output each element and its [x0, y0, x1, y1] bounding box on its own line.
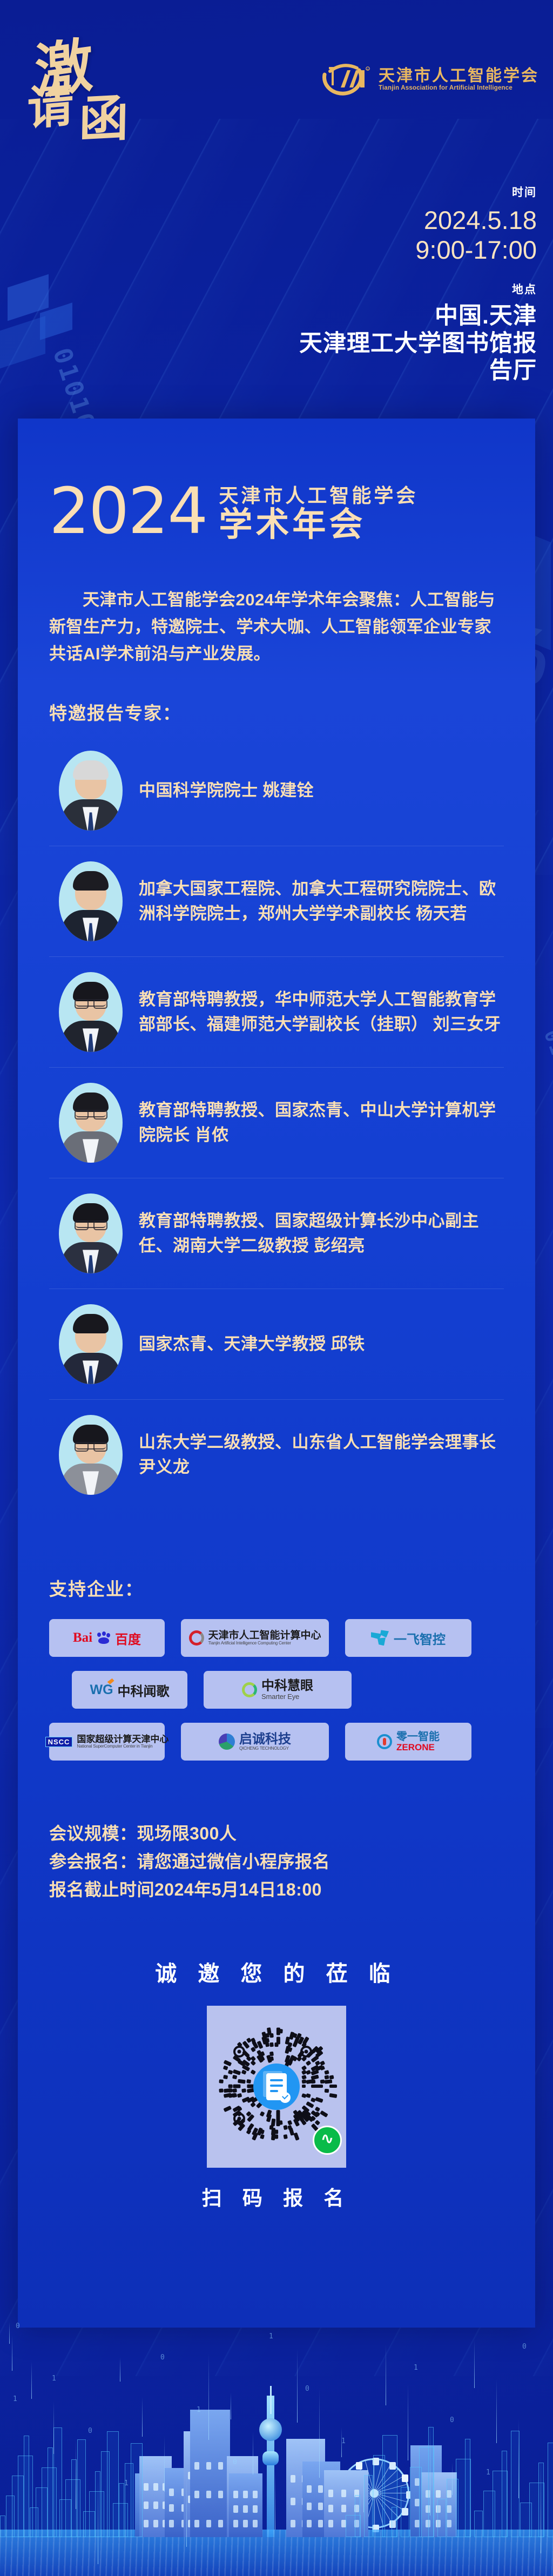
wireframe-building [131, 2443, 143, 2537]
building-window [253, 2520, 258, 2527]
tv-tower-pod [262, 2451, 279, 2465]
building-window [144, 2483, 149, 2491]
rain-streak [319, 2388, 320, 2478]
building-window [253, 2491, 258, 2498]
conference-name: 学术年会 [219, 507, 418, 543]
qr-module [306, 2101, 314, 2108]
sponsor-name: 零一智能 [396, 1731, 440, 1743]
qr-module [246, 2080, 251, 2084]
time-label: 时间 [310, 184, 537, 200]
qr-module [329, 2093, 337, 2098]
building-window [169, 2520, 174, 2527]
sponsor-name: 国家超级计算天津中心 [77, 1735, 168, 1745]
qr-code[interactable]: ∿ [207, 2006, 346, 2168]
qr-module [283, 2125, 287, 2130]
qr-module [269, 2034, 273, 2038]
nscc-wordmark-icon: NSCC [45, 1737, 73, 1747]
conference-org-name: 天津市人工智能学会 [219, 485, 418, 506]
building [190, 2410, 230, 2537]
binary-digit: 1 [197, 2406, 201, 2414]
building-window [318, 2485, 323, 2493]
place-label: 地点 [278, 281, 537, 297]
building-window [218, 2462, 223, 2470]
tv-tower-spire [270, 2386, 272, 2414]
qr-module [242, 2089, 246, 2093]
qr-module [279, 2121, 283, 2125]
binary-digit: 0 [450, 2416, 454, 2424]
qr-module [325, 2075, 329, 2079]
qr-module [219, 2080, 224, 2083]
qr-module [251, 2070, 256, 2075]
qr-module [251, 2102, 256, 2107]
qr-module [306, 2061, 311, 2066]
sponsor-logo-qicheng[interactable]: 启诚科技QICHENG TECHNOLOGY [181, 1723, 329, 1761]
rain-streak [76, 2440, 76, 2509]
sponsor-logo-nscc-tj[interactable]: NSCC国家超级计算天津中心National SuperComputer Cen… [49, 1723, 165, 1761]
qr-module [233, 2069, 241, 2075]
wireframe-building [548, 2443, 553, 2537]
building-window [243, 2491, 248, 2498]
qr-module [329, 2075, 334, 2079]
building-window [233, 2520, 238, 2527]
building-window [194, 2491, 199, 2498]
speaker-avatar [59, 861, 123, 941]
building-window [318, 2520, 323, 2527]
rain-streak [474, 2340, 475, 2388]
qr-module [315, 2107, 320, 2112]
rain-streak [253, 2432, 253, 2474]
rain-streak [31, 2362, 32, 2399]
qr-module [301, 2075, 306, 2080]
building-window [218, 2491, 223, 2498]
speaker-avatar [59, 1083, 123, 1163]
calligraphy-char-3: 函 [78, 95, 151, 144]
speaker-title-and-name: 加拿大国家工程院、加拿大工程研究院院士、欧洲科学院院士，郑州大学学术副校长 杨天… [139, 876, 504, 927]
qr-module [269, 2052, 274, 2056]
building-window [169, 2504, 174, 2512]
qr-module [315, 2085, 323, 2088]
sponsor-logo-zerone[interactable]: 零一智能ZERONE [345, 1723, 471, 1761]
qr-module [238, 2079, 246, 2083]
building-window [206, 2462, 211, 2470]
qr-module [265, 2038, 269, 2043]
wireframe-building [437, 2499, 446, 2537]
qr-module [301, 2080, 306, 2084]
wireframe-building [474, 2511, 483, 2537]
rain-streak [386, 2344, 386, 2405]
qr-module [325, 2080, 333, 2084]
qr-module [302, 2085, 306, 2088]
sponsor-logo-grid: Bai百度天津市人工智能计算中心Tianjin Artificial Intel… [49, 1619, 504, 1761]
speaker-title-and-name: 教育部特聘教授，华中师范大学人工智能教育学部部长、福建师范大学副校长（挂职） 刘… [139, 987, 504, 1037]
association-logo: R 天津市人工智能学会 Tianjin Association for Arti… [319, 60, 539, 99]
building-window [291, 2520, 295, 2527]
main-content-card: 2024 天津市人工智能学会 学术年会 天津市人工智能学会2024年学术年会聚焦… [18, 419, 535, 2328]
wireframe-building [355, 2495, 360, 2537]
registration-info: 会议规模：现场限300人 参会报名：请您通过微信小程序报名 报名截止时间2024… [49, 1820, 504, 1904]
binary-digit: 0 [522, 2343, 527, 2351]
binary-digit: 1 [341, 2437, 346, 2445]
rain-streak [363, 2467, 364, 2512]
rain-streak [275, 2471, 275, 2530]
tv-tower [267, 2396, 274, 2537]
building-window [144, 2520, 149, 2527]
rain-streak [430, 2423, 430, 2516]
building-window [233, 2491, 238, 2498]
building-window [233, 2505, 238, 2513]
building-window [318, 2503, 323, 2510]
binary-digit: 1 [13, 2395, 17, 2403]
baidu-wordmark: Bai [73, 1630, 92, 1646]
binary-digit: 1 [414, 2364, 418, 2372]
building-window [194, 2462, 199, 2470]
building-window [243, 2505, 248, 2513]
building-window [341, 2505, 346, 2512]
qr-pattern [219, 2029, 334, 2144]
wireframe-building [401, 2487, 409, 2537]
speaker-avatar [59, 1193, 123, 1273]
wireframe-building [24, 2436, 29, 2537]
qr-module [269, 2042, 273, 2047]
event-city: 中国.天津 [278, 302, 537, 330]
speaker-title-and-name: 教育部特聘教授、国家超级计算长沙中心副主任、湖南大学二级教授 彭绍亮 [139, 1209, 504, 1259]
qr-module [288, 2047, 293, 2052]
sponsor-name: 中科慧眼 [261, 1679, 313, 1693]
sponsor-logo-row: WG中科闻歌中科慧眼Smarter Eye [49, 1671, 504, 1709]
building-window [291, 2475, 295, 2483]
event-time-block: 时间 2024.5.18 9:00-17:00 [310, 184, 537, 265]
wireframe-building [119, 2483, 124, 2537]
binary-digit: 0 [160, 2354, 165, 2362]
qr-module [269, 2056, 274, 2061]
rain-streak [208, 2353, 209, 2440]
building-window [436, 2490, 441, 2498]
rain-streak [186, 2476, 187, 2547]
sponsor-logo-wengegroup[interactable]: WG中科闻歌 [72, 1671, 187, 1709]
speaker-title-and-name: 中国科学院院士 姚建铨 [139, 778, 314, 804]
rain-streak [142, 2397, 143, 2437]
logo-english-name: Tianjin Association for Artificial Intel… [379, 85, 539, 92]
sponsor-name: 中科闻歌 [118, 1681, 170, 1700]
binary-digit: 0 [305, 2385, 309, 2393]
conference-intro: 天津市人工智能学会2024年学术年会聚焦：人工智能与新智生产力，特邀院士、学术大… [49, 586, 504, 668]
building-window [144, 2501, 149, 2509]
building-window [194, 2520, 199, 2527]
speakers-section-title: 特邀报告专家： [49, 699, 504, 725]
sponsor-logo-row: Bai百度天津市人工智能计算中心Tianjin Artificial Intel… [49, 1619, 504, 1657]
sponsor-name: 启诚科技 [239, 1732, 291, 1746]
poster-header: R 天津市人工智能学会 Tianjin Association for Arti… [0, 0, 553, 135]
registration-deadline: 报名截止时间2024年5月14日18:00 [49, 1876, 504, 1904]
sponsor-subtitle: QICHENG TECHNOLOGY [239, 1746, 289, 1751]
building-window [153, 2501, 158, 2509]
registration-scale: 会议规模：现场限300人 [49, 1820, 504, 1848]
speaker-avatar [59, 1415, 123, 1495]
event-time-range: 9:00-17:00 [310, 235, 537, 265]
binary-digit: 0 [377, 2490, 382, 2498]
speaker-avatar [59, 751, 123, 831]
building-window [341, 2490, 346, 2497]
registration-signup: 参会报名：请您通过微信小程序报名 [49, 1848, 504, 1876]
city-skyline-illustration: 0101010101010101 [0, 2322, 553, 2576]
sponsor-name: 天津市人工智能计算中心 [208, 1630, 321, 1642]
rain-streak [452, 2463, 453, 2495]
sponsor-logo-baidu[interactable]: Bai百度 [49, 1619, 165, 1657]
binary-digit: 1 [52, 2375, 56, 2383]
qr-module [233, 2075, 238, 2079]
building-window [307, 2485, 312, 2493]
rain-streak [496, 2379, 497, 2443]
qr-module [293, 2132, 299, 2141]
qr-module [233, 2093, 238, 2098]
sponsor-name: 一飞智控 [394, 1629, 446, 1648]
qr-module [265, 2033, 269, 2038]
qr-module [219, 2089, 224, 2093]
bg-square [40, 302, 72, 340]
qr-module [325, 2089, 329, 2093]
qr-module [265, 2042, 269, 2047]
sponsor-logo-row: NSCC国家超级计算天津中心National SuperComputer Cen… [49, 1723, 504, 1761]
qr-module [320, 2066, 325, 2071]
wireframe-building [48, 2447, 53, 2537]
qr-module [228, 2089, 233, 2093]
speaker-row: 山东大学二级教授、山东省人工智能学会理事长 尹义龙 [49, 1400, 504, 1510]
speaker-row: 教育部特聘教授、国家超级计算长沙中心副主任、湖南大学二级教授 彭绍亮 [49, 1178, 504, 1289]
qr-module [233, 2085, 240, 2088]
qr-module [274, 2134, 278, 2139]
tv-tower-sphere [259, 2418, 282, 2441]
building-window [153, 2520, 158, 2527]
rain-streak [53, 2401, 54, 2454]
qr-module [260, 2134, 265, 2139]
speaker-title-and-name: 国家杰青、天津大学教授 邱铁 [139, 1332, 365, 1357]
qicheng-mark-icon [219, 1734, 235, 1750]
yifei-mark-icon [371, 1630, 389, 1646]
tjaicc-mark-icon [189, 1630, 204, 1646]
welcome-message: 诚 邀 您 的 莅 临 [49, 1956, 504, 1987]
binary-digit: 0 [16, 2322, 20, 2330]
rain-streak [297, 2349, 298, 2423]
sponsor-subtitle: Smarter Eye [261, 1693, 299, 1701]
ferris-wheel-cabin [402, 2474, 408, 2482]
event-venue: 天津理工大学图书馆报告厅 [278, 330, 537, 385]
qr-module [315, 2120, 320, 2126]
qr-finder-pattern [233, 2046, 245, 2058]
speaker-row: 教育部特聘教授、国家杰青、中山大学计算机学院院长 肖侬 [49, 1068, 504, 1178]
speaker-avatar [59, 1304, 123, 1384]
sponsor-subtitle: National SuperComputer Center in Tianjin [77, 1744, 152, 1749]
sponsor-logo-smartereye[interactable]: 中科慧眼Smarter Eye [204, 1671, 352, 1709]
binary-digit: 1 [269, 2332, 273, 2341]
speakers-list: 中国科学院院士 姚建铨加拿大国家工程院、加拿大工程研究院院士、欧洲科学院院士，郑… [49, 736, 504, 1510]
qr-module [320, 2110, 328, 2117]
speaker-row: 加拿大国家工程院、加拿大工程研究院院士、欧洲科学院院士，郑州大学学术副校长 杨天… [49, 846, 504, 957]
qr-module [315, 2097, 323, 2103]
rain-streak [231, 2392, 231, 2419]
speaker-title-and-name: 教育部特聘教授、国家杰青、中山大学计算机学院院长 肖侬 [139, 1098, 504, 1148]
sponsor-logo-tjaicc[interactable]: 天津市人工智能计算中心Tianjin Artificial Intelligen… [181, 1619, 329, 1657]
qr-module [237, 2093, 242, 2098]
building-window [307, 2520, 312, 2527]
qr-module [320, 2080, 324, 2083]
taai-logo-icon: R [319, 60, 371, 99]
qr-module [246, 2129, 252, 2135]
qr-module [311, 2080, 315, 2084]
building-window [218, 2520, 223, 2527]
bg-square [8, 274, 49, 321]
qr-module [306, 2070, 311, 2075]
building-window [328, 2490, 333, 2497]
qr-module [284, 2134, 288, 2139]
wireframe-building [502, 2451, 507, 2537]
qr-module [241, 2070, 247, 2075]
event-place-block: 地点 中国.天津 天津理工大学图书馆报告厅 [278, 281, 537, 385]
qr-finder-pattern [300, 2046, 312, 2058]
rain-streak [518, 2419, 519, 2498]
qr-module [292, 2042, 297, 2048]
binary-strip: 01010110100101 [550, 1810, 553, 1992]
binary-digit: 0 [88, 2427, 92, 2435]
qr-module [246, 2038, 252, 2043]
building-window [291, 2498, 295, 2505]
speaker-row: 教育部特聘教授，华中师范大学人工智能教育学部部长、福建师范大学副校长（挂职） 刘… [49, 957, 504, 1068]
qr-module [251, 2061, 256, 2066]
conference-title: 2024 天津市人工智能学会 学术年会 [49, 419, 504, 543]
building-window [328, 2505, 333, 2512]
form-document-icon [253, 2064, 300, 2110]
building-window [206, 2520, 211, 2527]
conference-year: 2024 [49, 482, 207, 540]
wireframe-building [392, 2507, 397, 2537]
wechat-miniprogram-icon: ∿ [313, 2126, 342, 2155]
smartereye-mark-icon [242, 1682, 257, 1697]
building-window [206, 2491, 211, 2498]
logo-chinese-name: 天津市人工智能学会 [379, 68, 539, 84]
wireframe-building [0, 2516, 5, 2537]
sponsor-logo-yifeizhikong[interactable]: 一飞智控 [345, 1619, 471, 1657]
qr-module [224, 2066, 228, 2071]
wg-wordmark-icon: WG [90, 1682, 113, 1698]
sponsor-subtitle: ZERONE [396, 1743, 435, 1753]
qr-finder-pattern [233, 2113, 245, 2125]
rain-streak [164, 2436, 165, 2492]
wireframe-building [364, 2475, 373, 2537]
qr-module [224, 2106, 232, 2112]
building-window [169, 2489, 174, 2496]
speaker-row: 国家杰青、天津大学教授 邱铁 [49, 1289, 504, 1400]
qr-module [260, 2111, 265, 2116]
scan-to-register-label: 扫 码 报 名 [49, 2182, 504, 2211]
baidu-paw-icon [97, 1631, 111, 1644]
qr-module [329, 2085, 337, 2088]
sponsors-section-title: 支持企业： [49, 1575, 504, 1601]
building-window [307, 2503, 312, 2510]
binary-digit: 0 [233, 2458, 237, 2466]
qr-module [260, 2056, 265, 2061]
rain-streak [9, 2322, 10, 2344]
qr-module [228, 2070, 233, 2075]
ferris-wheel-cabin [356, 2462, 362, 2470]
binary-digit: 1 [486, 2469, 490, 2477]
binary-strip: 01010110100101 [539, 1027, 553, 1209]
zerone-mark-icon [377, 1734, 392, 1749]
rain-streak [98, 2480, 98, 2564]
building-window [153, 2483, 158, 2491]
wireframe-building [538, 2463, 544, 2537]
invitation-poster: 01010110100101 01010110100101 0101011010… [0, 0, 553, 2576]
qr-module [274, 2043, 278, 2047]
qr-module [224, 2075, 228, 2079]
speaker-title-and-name: 山东大学二级教授、山东省人工智能学会理事长 尹义龙 [139, 1430, 504, 1480]
rain-streak [541, 2458, 541, 2553]
speaker-avatar [59, 972, 123, 1052]
wireframe-building [465, 2439, 470, 2537]
building-window [253, 2505, 258, 2513]
building-window [328, 2520, 333, 2527]
qr-code-area: ∿ [49, 2006, 504, 2168]
qr-module [228, 2085, 233, 2088]
binary-digit: 1 [124, 2479, 129, 2487]
qr-module [306, 2093, 311, 2098]
speaker-row: 中国科学院院士 姚建铨 [49, 736, 504, 846]
sponsor-name: 百度 [115, 1629, 141, 1648]
qr-module [233, 2089, 237, 2093]
rain-streak [12, 2336, 12, 2371]
rain-streak [408, 2384, 408, 2460]
wireframe-building [428, 2427, 434, 2537]
building-window [243, 2520, 248, 2527]
bg-square [0, 316, 45, 370]
rain-streak [120, 2357, 120, 2382]
sponsor-subtitle: Tianjin Artificial Intelligence Computin… [208, 1641, 291, 1646]
calligraphy-invitation: 激 请 函 [27, 39, 151, 155]
qr-module [324, 2070, 329, 2074]
qr-module [257, 2041, 263, 2049]
event-date: 2024.5.18 [310, 205, 537, 235]
qr-module [279, 2029, 282, 2033]
